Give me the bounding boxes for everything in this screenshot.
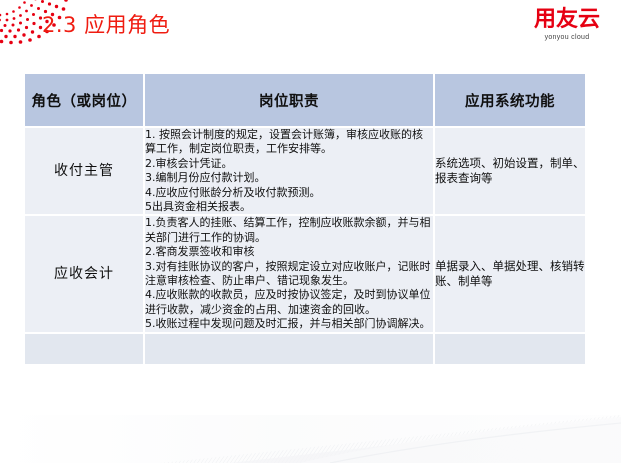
table-header-row: 角色（或岗位） 岗位职责 应用系统功能 bbox=[25, 74, 585, 126]
brand-name-en: yonyou cloud bbox=[525, 33, 609, 43]
table-row: 应收会计 1.负责客人的挂账、结算工作，控制应收账款余额，并与相关部门进行工作的… bbox=[25, 216, 585, 331]
duty-item: 3.对有挂账协议的客户，按照规定设立对应收账户，记账时注意审核检查、防止串户、错… bbox=[145, 260, 433, 289]
duty-item: 3.编制月份应付款计划。 bbox=[145, 171, 433, 185]
cell-role: 应收会计 bbox=[25, 216, 143, 331]
duty-item: 2.客商发票签收和审核 bbox=[145, 245, 433, 259]
table-row-empty bbox=[25, 334, 585, 364]
column-header-duty: 岗位职责 bbox=[145, 74, 433, 126]
duty-item: 2.审核会计凭证。 bbox=[145, 157, 433, 171]
cell-duties: 1.负责客人的挂账、结算工作，控制应收账款余额，并与相关部门进行工作的协调。 2… bbox=[145, 216, 433, 331]
column-header-function: 应用系统功能 bbox=[435, 74, 585, 126]
duty-item: 4.应收应付账龄分析及收付款预测。 bbox=[145, 186, 433, 200]
page-title: 2.3 应用角色 bbox=[42, 11, 170, 39]
diagonal-texture-band-icon bbox=[0, 415, 621, 463]
brand-name-cn: 用友云 bbox=[525, 8, 609, 32]
duty-item: 1. 按照会计制度的规定，设置会计账簿，审核应收账的核算工作，制定岗位职责，工作… bbox=[145, 128, 433, 157]
cell-duties bbox=[145, 334, 433, 364]
cell-functions: 单据录入、单据处理、核销转账、制单等 bbox=[435, 216, 585, 331]
table-row: 收付主管 1. 按照会计制度的规定，设置会计账簿，审核应收账的核算工作，制定岗位… bbox=[25, 128, 585, 214]
duty-item: 4.应收账款的收款员，应及时按协议签定，及时到协议单位进行收款，减少资金的占用、… bbox=[145, 288, 433, 317]
cell-duties: 1. 按照会计制度的规定，设置会计账簿，审核应收账的核算工作，制定岗位职责，工作… bbox=[145, 128, 433, 214]
brand-logo: 用友云 yonyou cloud bbox=[525, 8, 609, 43]
duty-item: 5.收账过程中发现问题及时汇报，并与相关部门协调解决。 bbox=[145, 317, 433, 331]
duty-item: 1.负责客人的挂账、结算工作，控制应收账款余额，并与相关部门进行工作的协调。 bbox=[145, 216, 433, 245]
cell-role bbox=[25, 334, 143, 364]
roles-table: 角色（或岗位） 岗位职责 应用系统功能 收付主管 1. 按照会计制度的规定，设置… bbox=[23, 72, 587, 366]
cell-role: 收付主管 bbox=[25, 128, 143, 214]
slide-header: 2.3 应用角色 用友云 yonyou cloud bbox=[0, 0, 621, 62]
cell-functions bbox=[435, 334, 585, 364]
cell-functions: 系统选项、初始设置，制单、报表查询等 bbox=[435, 128, 585, 214]
column-header-role: 角色（或岗位） bbox=[25, 74, 143, 126]
duty-item: 5出具资金相关报表。 bbox=[145, 200, 433, 214]
